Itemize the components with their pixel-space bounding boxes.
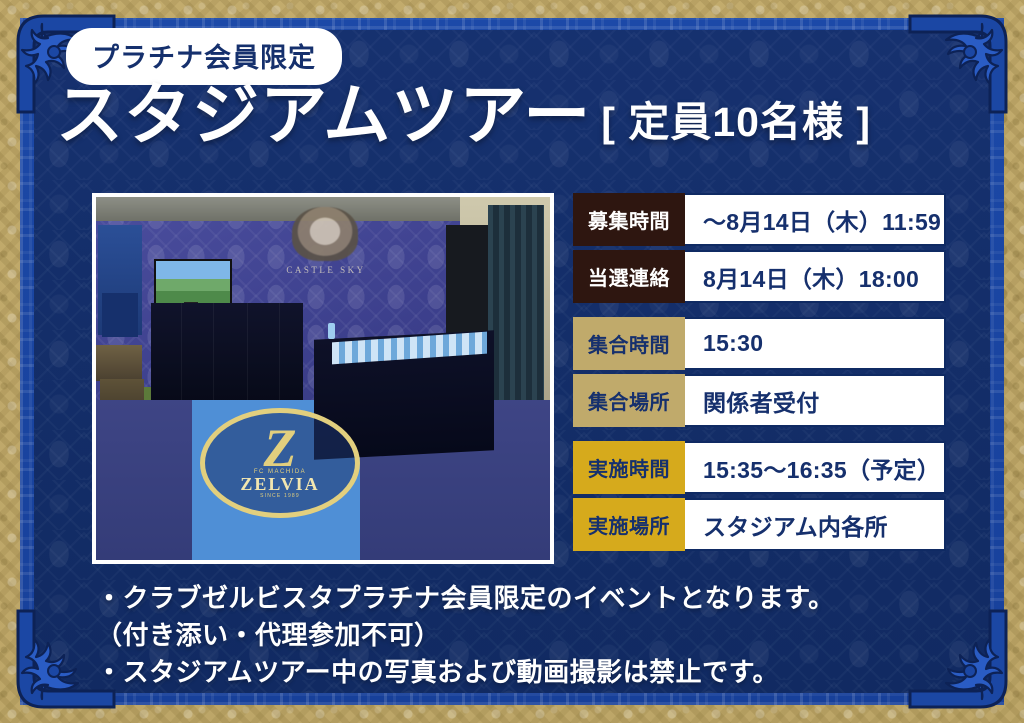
row-label: 募集時間 [573, 193, 685, 246]
row-label: 集合場所 [573, 374, 685, 427]
details-group: 募集時間〜8月14日（木）11:59当選連絡8月14日（木）18:00 [573, 193, 946, 303]
capacity-label: [ 定員10名様 ] [601, 102, 871, 149]
photo-monitor-screen [156, 261, 230, 304]
note-line: ・スタジアムツアー中の写真および動画撮影は禁止です。 [96, 654, 964, 691]
club-logo-since: SINCE 1989 [260, 493, 300, 499]
table-row: 集合場所関係者受付 [573, 374, 946, 427]
table-row: 実施時間15:35〜16:35（予定） [573, 441, 946, 494]
row-value: 15:30 [685, 317, 946, 370]
note-line: （付き添い・代理参加不可） [96, 617, 964, 654]
photo-bottle [328, 323, 335, 339]
row-label: 実施時間 [573, 441, 685, 494]
membership-badge: プラチナ会員限定 [66, 28, 342, 85]
page-title: スタジアムツアー [56, 82, 591, 149]
table-row: 実施場所スタジアム内各所 [573, 498, 946, 551]
club-logo-name: ZELVIA [240, 475, 319, 493]
event-photo: CASTLE SKY Z FC MACHIDA ZELVIA SINCE 198… [92, 193, 554, 564]
row-value: 8月14日（木）18:00 [685, 250, 946, 303]
table-row: 当選連絡8月14日（木）18:00 [573, 250, 946, 303]
row-value: スタジアム内各所 [685, 498, 946, 551]
photo-club-logo: Z FC MACHIDA ZELVIA SINCE 1989 [200, 408, 360, 518]
row-label: 当選連絡 [573, 250, 685, 303]
row-value: 15:35〜16:35（予定） [685, 441, 946, 494]
table-row: 集合時間15:30 [573, 317, 946, 370]
row-label: 実施場所 [573, 498, 685, 551]
title-row: スタジアムツアー [ 定員10名様 ] [56, 82, 984, 149]
photo-draped-table [151, 303, 303, 403]
details-group: 実施時間15:35〜16:35（予定）実施場所スタジアム内各所 [573, 441, 946, 551]
notes-block: ・クラブゼルビスタプラチナ会員限定のイベントとなります。（付き添い・代理参加不可… [96, 580, 964, 691]
row-value: 〜8月14日（木）11:59 [685, 193, 946, 246]
photo-backdrop-wordmark: CASTLE SKY [278, 265, 374, 275]
photo-merchandise-kit [98, 225, 142, 335]
row-label: 集合時間 [573, 317, 685, 370]
table-row: 募集時間〜8月14日（木）11:59 [573, 193, 946, 246]
event-poster: プラチナ会員限定 スタジアムツアー [ 定員10名様 ] CASTLE SKY … [0, 0, 1024, 723]
photo-monitor [154, 259, 232, 306]
event-details-table: 募集時間〜8月14日（木）11:59当選連絡8月14日（木）18:00集合時間1… [573, 193, 946, 551]
photo-crate [96, 345, 142, 381]
row-value: 関係者受付 [685, 374, 946, 427]
club-logo-monogram: Z [264, 427, 297, 470]
note-line: ・クラブゼルビスタプラチナ会員限定のイベントとなります。 [96, 580, 964, 617]
details-group: 集合時間15:30集合場所関係者受付 [573, 317, 946, 427]
photo-backdrop-crest-icon [292, 207, 358, 261]
